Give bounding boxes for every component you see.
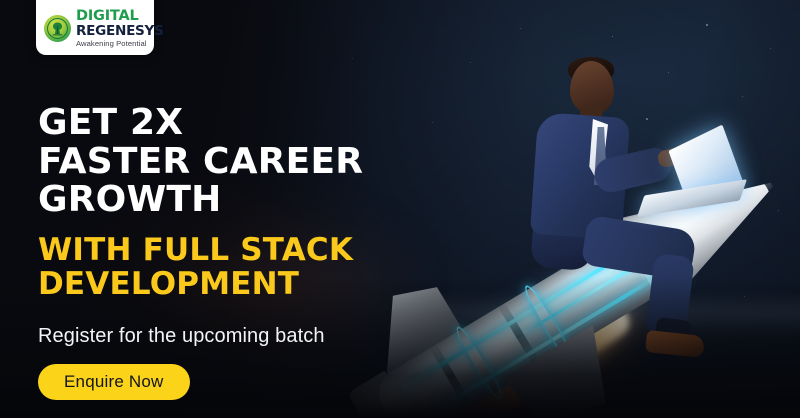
copy-block: GET 2X FASTER CAREER GROWTH WITH FULL ST… xyxy=(38,104,508,400)
tagline-text: Register for the upcoming batch xyxy=(38,325,508,348)
logo-tagline: Awakening Potential xyxy=(76,40,164,48)
tree-emblem-icon xyxy=(44,15,71,42)
logo-line-regenesys: REGENESYS xyxy=(76,25,164,39)
subheadline-line-1: WITH FULL STACK xyxy=(38,232,353,268)
promo-banner: DIGITAL REGENESYS Awakening Potential GE… xyxy=(0,0,800,418)
headline-line-1: GET 2X xyxy=(38,104,508,141)
subheadline-line-2: DEVELOPMENT xyxy=(38,268,508,301)
laptop-icon xyxy=(640,136,758,222)
subheadline: WITH FULL STACK DEVELOPMENT xyxy=(38,234,508,301)
headline-line-2: FASTER CAREER GROWTH xyxy=(38,143,508,218)
brand-logo[interactable]: DIGITAL REGENESYS Awakening Potential xyxy=(36,0,154,55)
logo-line-digital: DIGITAL xyxy=(76,9,164,24)
enquire-now-button[interactable]: Enquire Now xyxy=(38,364,190,400)
